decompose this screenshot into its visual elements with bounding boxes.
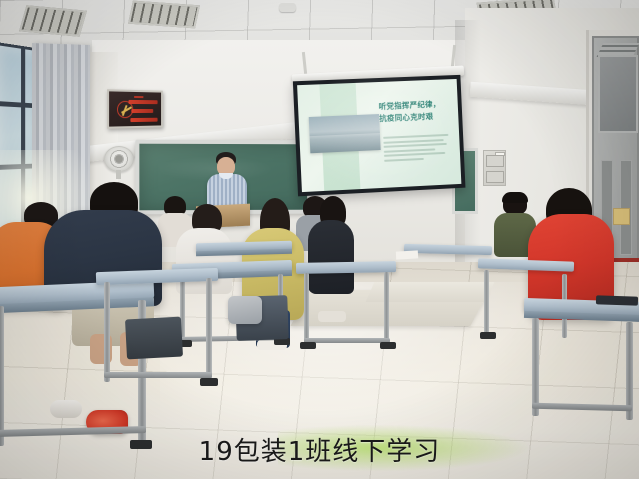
laptop xyxy=(596,295,638,305)
smoke-detector-icon xyxy=(279,3,296,12)
slide-body-line xyxy=(383,134,448,139)
poster-text-line xyxy=(131,109,153,113)
ceiling-light-grille xyxy=(19,5,87,36)
desk-crossbar xyxy=(304,338,390,343)
slide-body-line xyxy=(384,158,424,162)
desk-leg xyxy=(484,270,489,336)
slide-body-text xyxy=(383,134,452,165)
desk-foot xyxy=(480,332,496,339)
door-window xyxy=(598,55,638,133)
desk-foot xyxy=(300,342,316,349)
slide-photo xyxy=(308,114,380,153)
door-sign xyxy=(613,208,630,225)
panel-switch[interactable] xyxy=(486,171,504,183)
desk-foot xyxy=(380,342,396,349)
ceiling-light-grille xyxy=(128,1,200,29)
party-emblem-poster xyxy=(107,89,163,128)
projection-screen: 听党指挥严纪律， 抗疫同心克时艰 xyxy=(293,75,466,196)
desk-leg xyxy=(206,278,212,382)
student-chair xyxy=(125,317,183,360)
slide-body-line xyxy=(384,143,447,148)
presentation-slide: 听党指挥严纪律， 抗疫同心克时艰 xyxy=(297,79,461,192)
backpack xyxy=(228,296,262,324)
fan-hub xyxy=(115,155,123,163)
desk-foot xyxy=(200,378,218,386)
slide-title: 听党指挥严纪律， 抗疫同心克时艰 xyxy=(378,98,453,124)
classroom-photo: 听党指挥严纪律， 抗疫同心克时艰 xyxy=(0,0,639,479)
slide-title-line-2: 抗疫同心克时艰 xyxy=(379,110,454,125)
paper-sheet xyxy=(396,250,418,259)
photo-caption: 19包装1班线下学习 xyxy=(0,431,639,468)
desk-leg xyxy=(304,273,309,345)
slide-body-line xyxy=(384,152,445,157)
student-cap-icon xyxy=(502,192,528,203)
student-torso xyxy=(308,220,354,294)
student-desk xyxy=(296,261,396,274)
poster-text-line xyxy=(129,100,158,104)
desk-leg xyxy=(0,306,4,446)
poster-text-line xyxy=(130,118,157,122)
white-sneaker xyxy=(50,400,82,418)
student-shoe xyxy=(318,311,346,322)
desk-leg xyxy=(532,318,539,416)
desk-leg xyxy=(384,272,389,346)
fan-arm xyxy=(116,170,121,179)
desk-leg xyxy=(104,282,110,382)
poster-header-text xyxy=(134,96,143,98)
wall-mounted-fan xyxy=(104,146,134,174)
slide-body-line xyxy=(384,148,436,152)
desk-crossbar xyxy=(104,372,212,378)
wall-control-panel[interactable] xyxy=(483,150,506,186)
panel-switch[interactable] xyxy=(486,155,504,167)
